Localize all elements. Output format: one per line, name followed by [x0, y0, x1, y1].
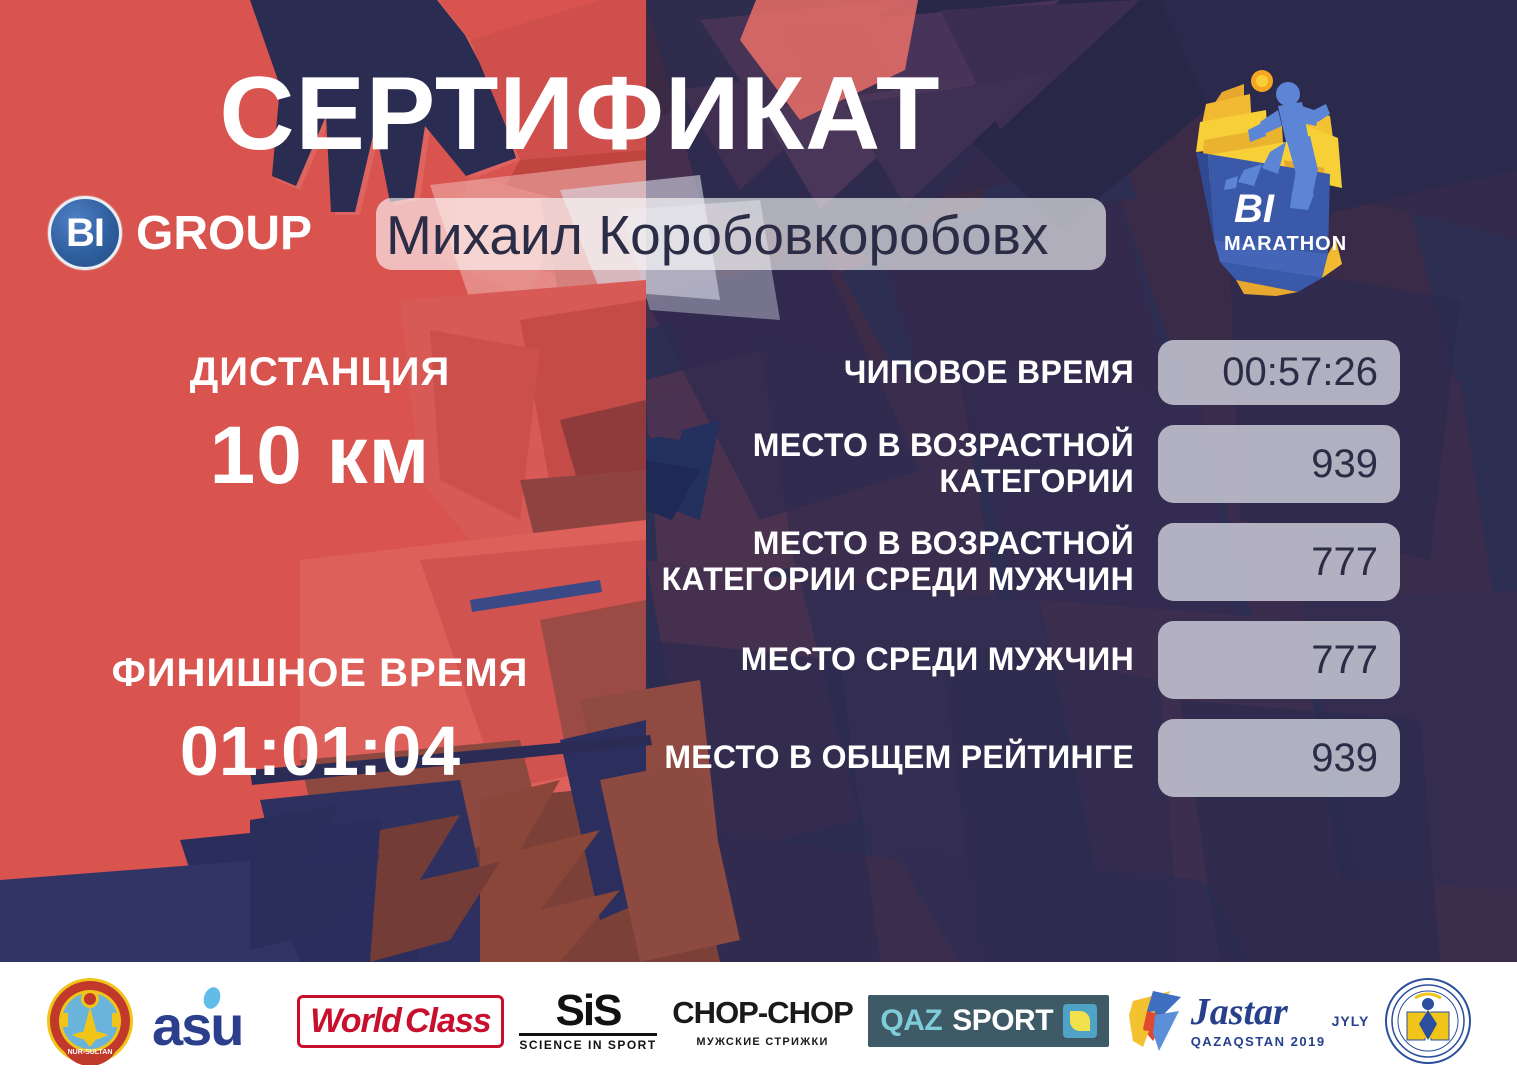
sponsor-bar: NUR-SULTAN asu World Class SiS SCIENCE I… — [0, 962, 1517, 1080]
certificate-canvas: СЕРТИФИКАТ BI GROUP Михаил Коробовкоробо… — [0, 0, 1517, 1080]
stat-label: МЕСТО СРЕДИ МУЖЧИН — [620, 642, 1158, 678]
chop-chop-tagline: МУЖСКИЕ СТРИЖКИ — [672, 1036, 852, 1048]
distance-block: ДИСТАНЦИЯ 10 км — [20, 350, 620, 503]
bi-logo-icon: BI — [48, 196, 122, 270]
bi-marathon-logo: BI MARATHON — [1178, 64, 1378, 296]
qazsport-text-1: QAZ — [880, 1004, 942, 1038]
stat-value: 777 — [1158, 621, 1400, 699]
stat-row: ЧИПОВОЕ ВРЕМЯ 00:57:26 — [620, 340, 1400, 405]
jastar-bird-icon — [1125, 985, 1185, 1057]
sponsor-world-class: World Class — [297, 976, 503, 1066]
nur-sultan-emblem-icon: NUR-SULTAN — [46, 977, 134, 1065]
sponsor-chop-chop: CHOP-CHOP МУЖСКИЕ СТРИЖКИ — [672, 976, 852, 1066]
marathon-logo-bi: BI — [1234, 187, 1275, 231]
stat-value: 939 — [1158, 719, 1400, 797]
jastar-jyly-text: JYLY — [1332, 1013, 1370, 1029]
marathon-logo-marathon: MARATHON — [1224, 233, 1347, 255]
asu-logo-text: asu — [152, 994, 243, 1057]
chop-chop-text: CHOP-CHOP — [672, 995, 852, 1031]
finish-time-block: ФИНИШНОЕ ВРЕМЯ 01:01:04 — [20, 650, 620, 791]
stat-row: МЕСТО В ОБЩЕМ РЕЙТИНГЕ 939 — [620, 719, 1400, 797]
sponsor-asu: asu — [150, 976, 282, 1066]
sponsor-nur-sultan: NUR-SULTAN — [46, 976, 134, 1066]
distance-value: 10 км — [20, 409, 620, 503]
finish-time-label: ФИНИШНОЕ ВРЕМЯ — [20, 650, 620, 697]
certificate-title: СЕРТИФИКАТ — [0, 62, 1160, 166]
stat-row: МЕСТО В ВОЗРАСТНОЙ КАТЕГОРИИ СРЕДИ МУЖЧИ… — [620, 523, 1400, 601]
ministry-emblem-icon — [1385, 978, 1471, 1064]
finish-time-value: 01:01:04 — [20, 711, 620, 791]
nur-sultan-label: NUR-SULTAN — [68, 1049, 113, 1056]
world-class-text-1: World — [310, 1002, 401, 1041]
sis-tagline: SCIENCE IN SPORT — [519, 1033, 656, 1052]
sis-logo-text: SiS — [519, 990, 656, 1032]
jastar-subtitle: QAZAQSTAN 2019 — [1191, 1034, 1326, 1049]
world-class-text-2: Class — [405, 1002, 491, 1041]
jastar-text: Jastar — [1191, 993, 1326, 1031]
asu-logo-icon: asu — [150, 985, 282, 1057]
distance-label: ДИСТАНЦИЯ — [20, 350, 620, 395]
stat-row: МЕСТО В ВОЗРАСТНОЙ КАТЕГОРИИ 939 — [620, 425, 1400, 503]
stat-label: ЧИПОВОЕ ВРЕМЯ — [620, 355, 1158, 391]
stat-value: 777 — [1158, 523, 1400, 601]
stat-value: 939 — [1158, 425, 1400, 503]
stats-list: ЧИПОВОЕ ВРЕМЯ 00:57:26 МЕСТО В ВОЗРАСТНО… — [620, 340, 1400, 817]
qazsport-text-2: SPORT — [952, 1004, 1053, 1038]
stat-row: МЕСТО СРЕДИ МУЖЧИН 777 — [620, 621, 1400, 699]
bi-group-wordmark: GROUP — [136, 206, 312, 261]
stat-label: МЕСТО В ОБЩЕМ РЕЙТИНГЕ — [620, 740, 1158, 776]
stat-value: 00:57:26 — [1158, 340, 1400, 405]
sponsor-jastar: Jastar QAZAQSTAN 2019 JYLY — [1125, 976, 1370, 1066]
sponsor-ministry — [1385, 976, 1471, 1066]
participant-name: Михаил Коробовкоробовх — [386, 203, 1146, 267]
stat-label: МЕСТО В ВОЗРАСТНОЙ КАТЕГОРИИ — [620, 428, 1158, 500]
bi-group-logo: BI GROUP — [48, 196, 312, 270]
sponsor-qazsport: QAZ SPORT — [868, 976, 1109, 1066]
stat-label: МЕСТО В ВОЗРАСТНОЙ КАТЕГОРИИ СРЕДИ МУЖЧИ… — [620, 526, 1158, 598]
bi-logo-text: BI — [66, 211, 104, 256]
qazsport-mark-icon — [1063, 1004, 1097, 1038]
sponsor-sis: SiS SCIENCE IN SPORT — [519, 976, 656, 1066]
